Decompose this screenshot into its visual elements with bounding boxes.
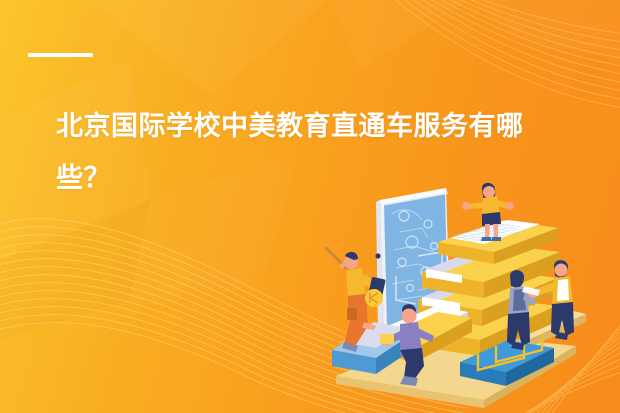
promo-banner: 北京国际学校中美教育直通车服务有哪些？ xyxy=(0,0,620,413)
hero-illustration xyxy=(318,180,620,413)
accent-rule xyxy=(28,53,93,57)
accent-badge xyxy=(365,289,383,307)
